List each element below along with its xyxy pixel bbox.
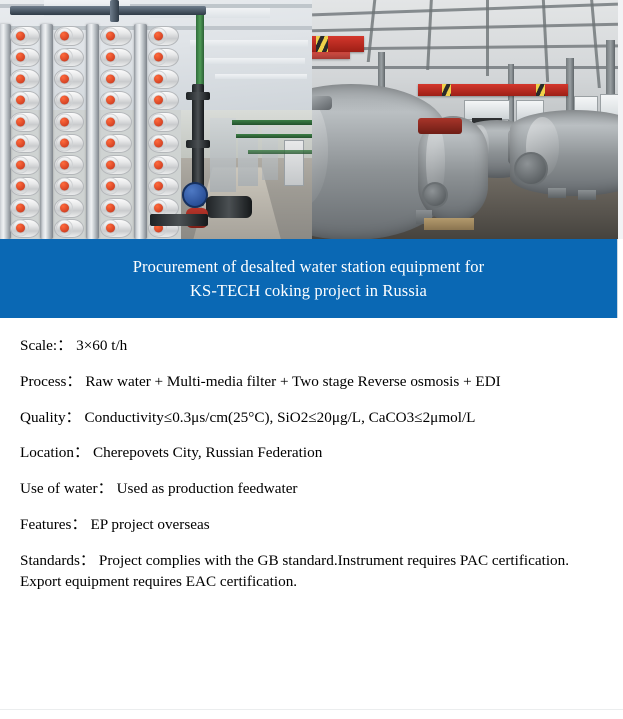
spec-label-standards: Standards：	[20, 552, 95, 569]
roof-truss	[486, 0, 489, 76]
vessel-end-cap	[60, 96, 69, 105]
vessel-end-cap	[106, 139, 115, 148]
spec-row-location: Location： Cherepovets City, Russian Fede…	[20, 442, 609, 463]
vessel-end-cap	[60, 53, 69, 62]
vessel-nameplate	[312, 96, 332, 110]
vessel-end-cap	[106, 96, 115, 105]
vessel-end-cap	[60, 117, 69, 126]
vessel-end-cap	[16, 204, 25, 213]
crane-hazard-stripe	[316, 36, 328, 52]
vessel-end-cap	[60, 204, 69, 213]
spec-value-standards: Project complies with the GB standard.In…	[20, 552, 569, 590]
spec-row-quality: Quality： Conductivity≤0.3μs/cm(25°C), Si…	[20, 407, 609, 428]
spec-value-use-of-water: Used as production feedwater	[117, 480, 298, 497]
vessel-end-cap	[16, 96, 25, 105]
vessel-end-cap	[106, 160, 115, 169]
vessel-end-cap	[154, 96, 163, 105]
spec-value-scale: 3×60 t/h	[76, 337, 127, 354]
spec-value-process: Raw water + Multi-media filter + Two sta…	[85, 373, 500, 390]
photo-strip	[0, 0, 623, 239]
crane-rail	[312, 52, 350, 59]
vessel-nozzle	[422, 182, 448, 208]
reverse-osmosis-membrane-racks-photo	[0, 0, 312, 239]
vessel-end-cap	[154, 204, 163, 213]
hand-wheel-valve	[182, 182, 208, 208]
vessel-end-cap	[106, 74, 115, 83]
spec-label-quality: Quality：	[20, 409, 81, 426]
vessel-end-cap	[154, 160, 163, 169]
spec-label-location: Location：	[20, 444, 89, 461]
vessel-end-cap	[106, 31, 115, 40]
green-pipe-rail	[236, 134, 312, 138]
vessel-end-cap	[106, 182, 115, 191]
spec-row-scale: Scale:： 3×60 t/h	[20, 335, 609, 356]
ceiling-panel	[190, 40, 308, 47]
ro-membrane-rack	[0, 24, 193, 239]
ceiling-panel	[205, 58, 305, 64]
project-spec-list: Scale:： 3×60 t/h Process： Raw water + Mu…	[0, 318, 623, 592]
foreground-pipe-elbow	[206, 196, 252, 218]
spec-value-quality: Conductivity≤0.3μs/cm(25°C), SiO2≤20μg/L…	[85, 409, 476, 426]
project-details-body: Scale:： 3×60 t/h Process： Raw water + Mu…	[0, 318, 623, 714]
header-pipe	[10, 6, 206, 15]
vessel-saddle	[578, 190, 596, 200]
vessel-end-cap	[154, 31, 163, 40]
spec-value-location: Cherepovets City, Russian Federation	[93, 444, 322, 461]
pipe-flange	[186, 92, 210, 100]
floor-pipe	[150, 214, 208, 226]
vessel-end-cap	[16, 139, 25, 148]
timber-pallet	[424, 218, 474, 230]
project-title: Procurement of desalted water station eq…	[119, 255, 499, 302]
vessel-end-cap	[106, 117, 115, 126]
pipe-flange	[186, 140, 210, 148]
workshop-window	[464, 100, 510, 120]
vessel-end-cap	[16, 160, 25, 169]
spec-label-scale: Scale:：	[20, 337, 72, 354]
vessel-end-cap	[154, 74, 163, 83]
spec-value-features: EP project overseas	[90, 516, 209, 533]
membrane-vessel-grid	[0, 24, 193, 239]
project-title-banner: Procurement of desalted water station eq…	[0, 239, 618, 318]
green-pipe-rail	[232, 120, 312, 125]
vessel-end-cap	[106, 53, 115, 62]
vessel-end-cap	[16, 53, 25, 62]
vessel-end-cap	[60, 74, 69, 83]
project-title-line-1: Procurement of desalted water station eq…	[133, 257, 485, 276]
ceiling-panel	[215, 74, 307, 79]
vessel-red-marking	[418, 118, 462, 134]
vessel-saddle	[548, 188, 566, 198]
vessel-end-cap	[16, 31, 25, 40]
vessel-end-cap	[154, 53, 163, 62]
header-pipe-riser	[110, 0, 119, 22]
photo-right-edge	[618, 0, 623, 239]
green-pipe-rail	[248, 150, 312, 154]
spec-row-use-of-water: Use of water： Used as production feedwat…	[20, 478, 609, 499]
vessel-end-cap	[60, 31, 69, 40]
vessel-end-cap	[154, 139, 163, 148]
spec-label-process: Process：	[20, 373, 82, 390]
vessel-end-cap	[60, 224, 69, 233]
project-title-line-2: KS-TECH coking project in Russia	[190, 281, 427, 300]
spec-label-features: Features：	[20, 516, 87, 533]
vessel-end-cap	[16, 182, 25, 191]
vessel-end-cap	[106, 224, 115, 233]
crane-hazard-stripe	[442, 84, 451, 96]
vessel-manway-nozzle	[514, 152, 548, 186]
project-slide: Procurement of desalted water station eq…	[0, 0, 623, 719]
pressure-vessel-workshop-photo	[312, 0, 618, 239]
vessel-end-cap	[154, 117, 163, 126]
spec-row-features: Features： EP project overseas	[20, 514, 609, 535]
vessel-end-cap	[16, 117, 25, 126]
spec-row-standards: Standards： Project complies with the GB …	[20, 550, 609, 593]
overhead-gantry-crane	[418, 84, 568, 96]
spec-label-use-of-water: Use of water：	[20, 480, 113, 497]
vessel-end-cap	[60, 182, 69, 191]
vessel-end-cap	[154, 182, 163, 191]
vessel-end-cap	[60, 139, 69, 148]
spec-row-process: Process： Raw water + Multi-media filter …	[20, 371, 609, 392]
distant-equipment-rack	[210, 118, 236, 192]
bottom-divider	[0, 709, 623, 710]
control-cabinet	[284, 140, 304, 186]
vessel-end-cap	[60, 160, 69, 169]
vessel-end-cap	[16, 224, 25, 233]
vessel-end-cap	[16, 74, 25, 83]
crane-hazard-stripe	[536, 84, 545, 96]
overhead-gantry-crane	[312, 36, 364, 52]
vessel-end-cap	[106, 204, 115, 213]
